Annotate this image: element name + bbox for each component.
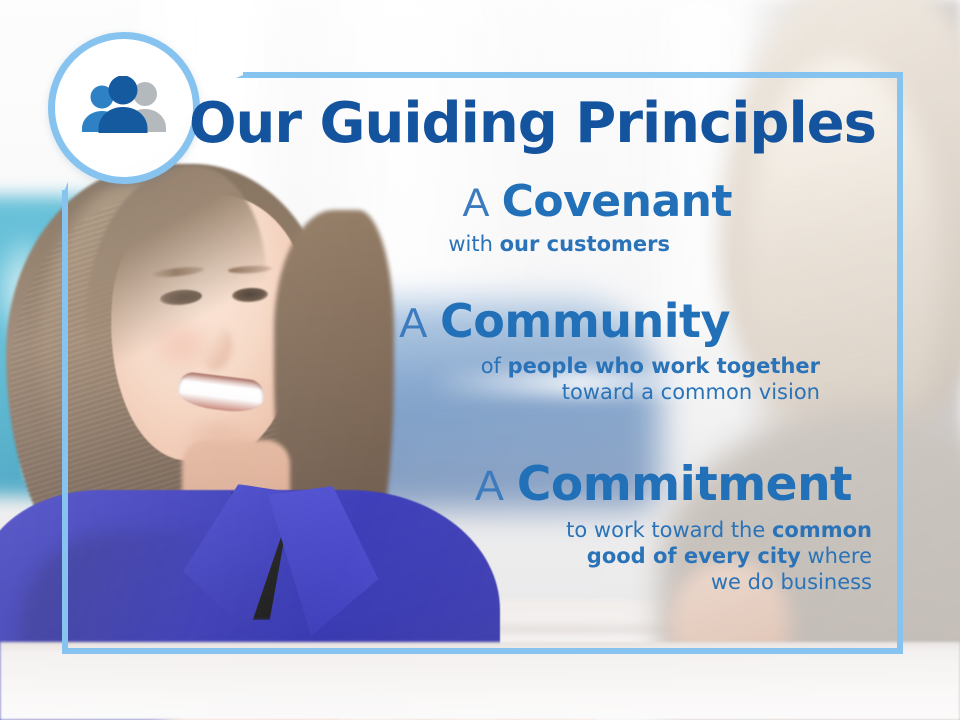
principle-2-sub-line1: of people who work together: [0, 353, 820, 379]
principle-covenant: A Covenant with our customers: [0, 180, 960, 257]
promo-banner: FLOW FLOW Our Guiding Principles: [0, 0, 960, 720]
principle-2-sub-plain: of: [481, 354, 508, 378]
principle-community: A Community of people who work together …: [0, 298, 960, 405]
principle-1-sub-bold: our customers: [500, 232, 670, 256]
principle-3-line2-bold: good of every city: [587, 544, 801, 568]
principle-3-sub-plain: to work toward the: [566, 518, 772, 542]
page-title: Our Guiding Principles: [0, 96, 876, 152]
principle-1-subtext: with our customers: [0, 231, 960, 257]
principle-3-heading: A Commitment: [0, 460, 960, 509]
principle-1-word: Covenant: [502, 176, 732, 227]
principle-2-sub-line2: toward a common vision: [0, 379, 820, 405]
principle-1-heading: A Covenant: [0, 180, 960, 225]
principle-3-sub-line1: to work toward the common: [0, 517, 872, 543]
principle-commitment: A Commitment to work toward the common g…: [0, 460, 960, 595]
principle-3-subtext: to work toward the common good of every …: [0, 517, 960, 595]
principle-3-article: A: [475, 462, 504, 510]
principle-2-article: A: [399, 299, 427, 346]
principle-2-subtext: of people who work together toward a com…: [0, 353, 960, 405]
principle-3-sub-bold: common: [772, 518, 872, 542]
frame-top-edge: [243, 72, 903, 78]
principle-3-word: Commitment: [517, 457, 852, 512]
frame-bottom-edge: [62, 648, 903, 654]
principle-1-article: A: [463, 181, 490, 225]
principle-2-heading: A Community: [0, 298, 960, 345]
principle-3-line2-plain: where: [801, 544, 872, 568]
principle-2-sub-bold: people who work together: [508, 354, 820, 378]
principle-2-word: Community: [440, 294, 730, 348]
principle-1-sub-plain: with: [448, 232, 499, 256]
principle-3-sub-line2: good of every city where: [0, 543, 872, 569]
principle-3-sub-line3: we do business: [0, 569, 872, 595]
